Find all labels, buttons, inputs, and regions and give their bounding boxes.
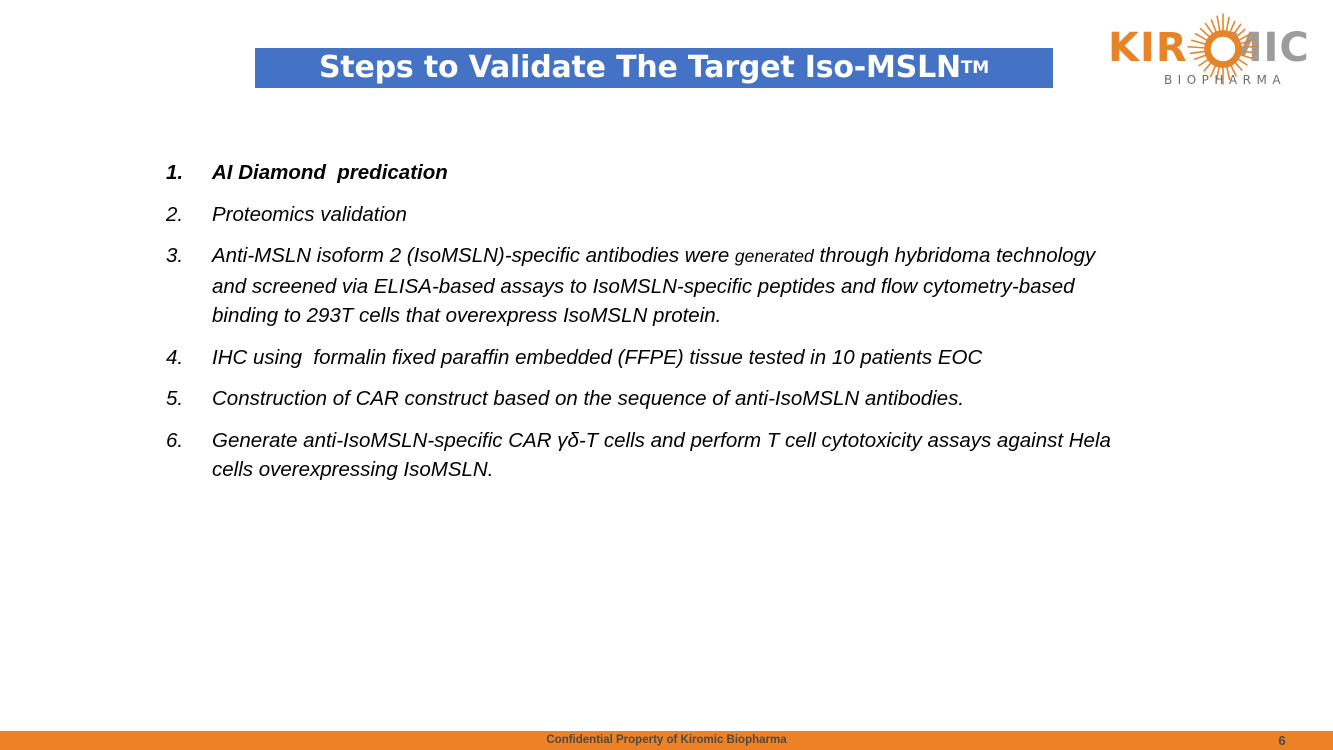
list-item-number: 4. [166, 343, 212, 373]
list-item: 3. Anti-MSLN isoform 2 (IsoMSLN)-specifi… [166, 241, 1126, 331]
kiromic-logo: KIROMIC [1108, 10, 1330, 100]
list-item: 2. Proteomics validation [166, 200, 1126, 230]
logo-tagline: BIOPHARMA [1120, 72, 1330, 88]
list-item-label: Proteomics validation [212, 200, 1126, 230]
footer-confidentiality-text: Confidential Property of Kiromic Biophar… [0, 731, 1333, 750]
list-item-label: Generate anti-IsoMSLN-specific CAR γδ-T … [212, 426, 1126, 485]
page-title-main: Steps to Validate The Target Iso-MSLN [319, 53, 961, 83]
list-item-text-before: Anti-MSLN isoform 2 (IsoMSLN)-specific a… [212, 244, 735, 267]
list-item-number: 6. [166, 426, 212, 456]
list-item-label: Construction of CAR construct based on t… [212, 384, 1126, 414]
list-item-label: AI Diamond predication [212, 158, 1126, 188]
list-item: 6. Generate anti-IsoMSLN-specific CAR γδ… [166, 426, 1126, 485]
list-item-text-emphasis-small: generated [735, 246, 814, 266]
list-item: 4. IHC using formalin fixed paraffin emb… [166, 343, 1126, 373]
list-item: 5. Construction of CAR construct based o… [166, 384, 1126, 414]
slide-canvas: Steps to Validate The Target Iso-MSLNTM … [0, 0, 1333, 750]
logo-text-kir: KIR [1108, 25, 1188, 71]
list-item-number: 5. [166, 384, 212, 414]
list-item: 1. AI Diamond predication [166, 158, 1126, 188]
footer-page-number: 6 [1270, 731, 1294, 750]
list-item-number: 3. [166, 241, 212, 271]
steps-list: 1. AI Diamond predication 2. Proteomics … [166, 158, 1126, 497]
list-item-label: Anti-MSLN isoform 2 (IsoMSLN)-specific a… [212, 241, 1126, 331]
list-item-label: IHC using formalin fixed paraffin embedd… [212, 343, 1126, 373]
list-item-number: 2. [166, 200, 212, 230]
page-title: Steps to Validate The Target Iso-MSLNTM [255, 48, 1053, 88]
list-item-number: 1. [166, 158, 212, 188]
